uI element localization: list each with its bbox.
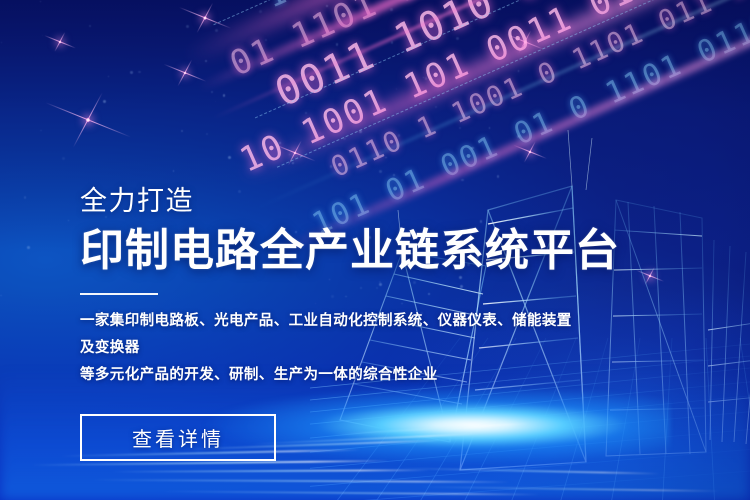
hero-subtitle-line-2: 等多元化产品的开发、研制、生产为一体的综合性企业 xyxy=(80,362,580,389)
light-streak xyxy=(90,479,510,483)
hero-subtitle: 一家集印制电路板、光电产品、工业自动化控制系统、仪器仪表、储能装置及变换器 等多… xyxy=(80,308,580,388)
light-streak xyxy=(420,486,720,492)
light-streak xyxy=(110,469,430,472)
light-streak xyxy=(400,467,660,474)
hero-headline: 印制电路全产业链系统平台 xyxy=(80,225,680,276)
hero-banner: 10 1001 101 0011 01 1100 1010 01 1101 00… xyxy=(0,0,750,500)
view-details-button[interactable]: 查看详情 xyxy=(80,414,276,461)
hero-content: 全力打造 印制电路全产业链系统平台 一家集印制电路板、光电产品、工业自动化控制系… xyxy=(80,186,680,461)
divider-rule xyxy=(80,293,158,295)
light-streak xyxy=(160,490,540,495)
hero-subtitle-line-1: 一家集印制电路板、光电产品、工业自动化控制系统、仪器仪表、储能装置及变换器 xyxy=(80,308,580,362)
hero-eyebrow: 全力打造 xyxy=(80,186,680,218)
